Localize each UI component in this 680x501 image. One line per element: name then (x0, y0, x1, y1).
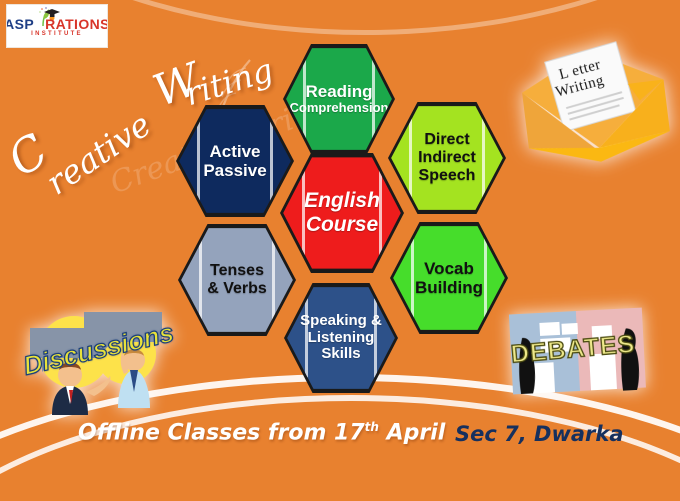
hexagon-highlight-right (482, 117, 485, 199)
envelope-letter-icon (513, 35, 677, 172)
hexagon-highlight-left (409, 117, 412, 199)
hexagon-speaking-listening-skills-line1: Speaking & (300, 313, 382, 330)
hexagon-highlight-right (484, 237, 487, 319)
hexagon-tenses-verbs[interactable]: Tenses& Verbs (180, 226, 294, 334)
hexagon-highlight-left (305, 298, 308, 379)
hexagon-vocab-building[interactable]: VocabBuilding (392, 224, 506, 332)
hexagon-tenses-verbs-line1: Tenses (207, 262, 267, 280)
hexagon-tenses-verbs-label: Tenses& Verbs (201, 262, 273, 298)
hexagon-highlight-right (374, 298, 377, 379)
hexagon-vocab-building-line1: Vocab (415, 259, 483, 278)
brand-name-part2: RATIONS (45, 16, 108, 32)
letter-writing-graphic: L etter Writing (513, 35, 677, 172)
brand-name: ASPRATIONS (6, 17, 108, 31)
discussions-graphic: Discussions (14, 300, 189, 415)
footer-schedule-post: April (379, 420, 445, 445)
hexagon-highlight-right (379, 169, 382, 257)
hexagon-highlight-left (199, 239, 202, 321)
hexagon-english-course-line2: Course (304, 213, 380, 237)
brand-logo: ASPRATIONS INSTITUTE (6, 4, 108, 48)
hexagon-highlight-left (197, 120, 200, 202)
hexagon-speaking-listening-skills-line2: Listening (300, 330, 382, 347)
hexagon-speaking-listening-skills[interactable]: Speaking &ListeningSkills (286, 285, 396, 391)
hexagon-active-passive-line2: Passive (203, 161, 266, 180)
hexagon-english-course-line1: English (304, 189, 380, 213)
hexagon-highlight-left (411, 237, 414, 319)
debates-graphic: DEBATES (503, 301, 653, 403)
hexagon-active-passive-line1: Active (203, 142, 266, 161)
hexagon-english-course-label: EnglishCourse (298, 189, 386, 236)
hexagon-speaking-listening-skills-line3: Skills (300, 346, 382, 363)
headline-letter-c: C (0, 123, 57, 187)
hexagon-direct-indirect-speech-line1: Direct (418, 131, 476, 149)
hexagon-english-course[interactable]: EnglishCourse (282, 155, 402, 271)
poster-canvas: ASPRATIONS INSTITUTE Creative Writing C … (0, 0, 680, 501)
hexagon-highlight-right (272, 239, 275, 321)
hexagon-highlight-right (270, 120, 273, 202)
footer-location-text: Sec 7, Dwarka (455, 422, 624, 446)
headline-creative-rest: reative (39, 105, 158, 203)
headline-writing-rest: riting (180, 51, 277, 114)
footer-schedule-ordinal: th (365, 420, 379, 434)
hexagon-tenses-verbs-line2: & Verbs (207, 280, 267, 298)
hexagon-active-passive-label: ActivePassive (197, 142, 272, 180)
hexagon-reading-comprehension-label: ReadingComprehension (284, 82, 395, 116)
hexagon-highlight-right (372, 59, 375, 140)
hexagon-vocab-building-line2: Building (415, 278, 483, 297)
hexagon-active-passive[interactable]: ActivePassive (178, 107, 292, 215)
hexagon-vocab-building-label: VocabBuilding (409, 259, 489, 297)
brand-name-part1: ASP (6, 16, 34, 32)
hexagon-direct-indirect-speech-line3: Speech (418, 167, 476, 185)
hexagon-highlight-left (303, 59, 306, 140)
footer-schedule-pre: Offline Classes from 17 (78, 420, 365, 445)
hexagon-direct-indirect-speech-label: DirectIndirectSpeech (412, 131, 482, 185)
hexagon-reading-comprehension[interactable]: ReadingComprehension (285, 46, 393, 152)
hexagon-direct-indirect-speech[interactable]: DirectIndirectSpeech (390, 104, 504, 212)
hexagon-direct-indirect-speech-line2: Indirect (418, 149, 476, 167)
hexagon-highlight-left (302, 169, 305, 257)
footer-schedule-text: Offline Classes from 17th April (78, 420, 445, 445)
headline-letter-w: W (147, 54, 207, 117)
